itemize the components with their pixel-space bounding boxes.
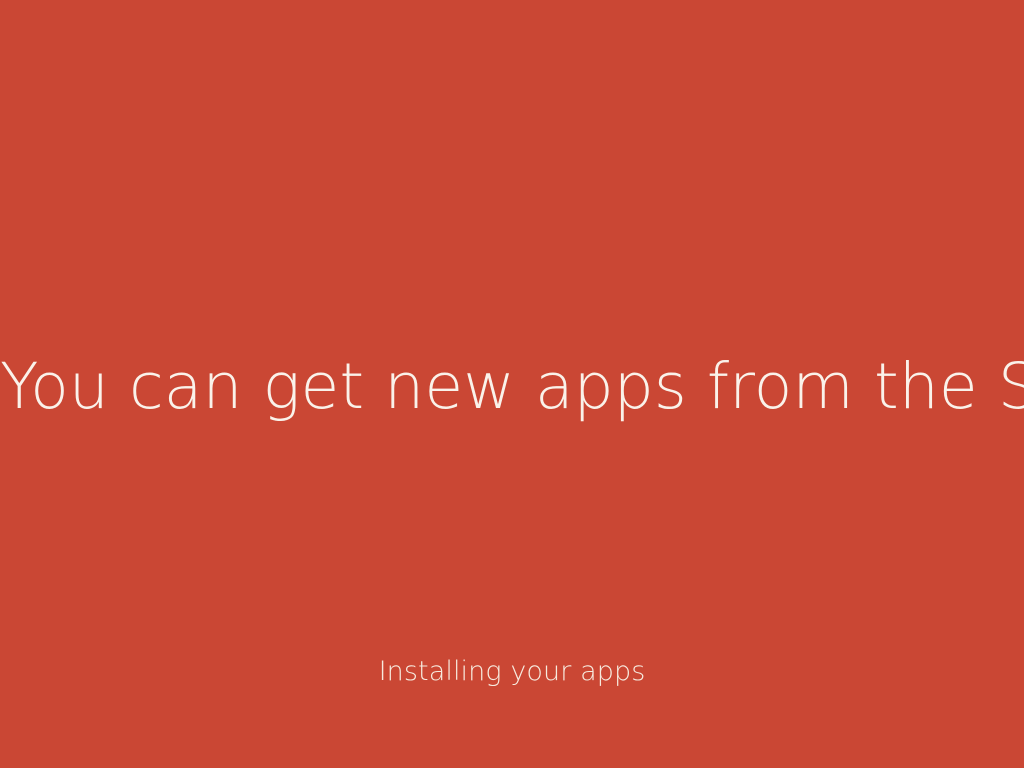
page-headline: You can get new apps from the Store [0, 349, 1024, 425]
oobe-setup-screen: You can get new apps from the Store Inst… [0, 0, 1024, 768]
installation-status-text: Installing your apps [0, 655, 1024, 689]
